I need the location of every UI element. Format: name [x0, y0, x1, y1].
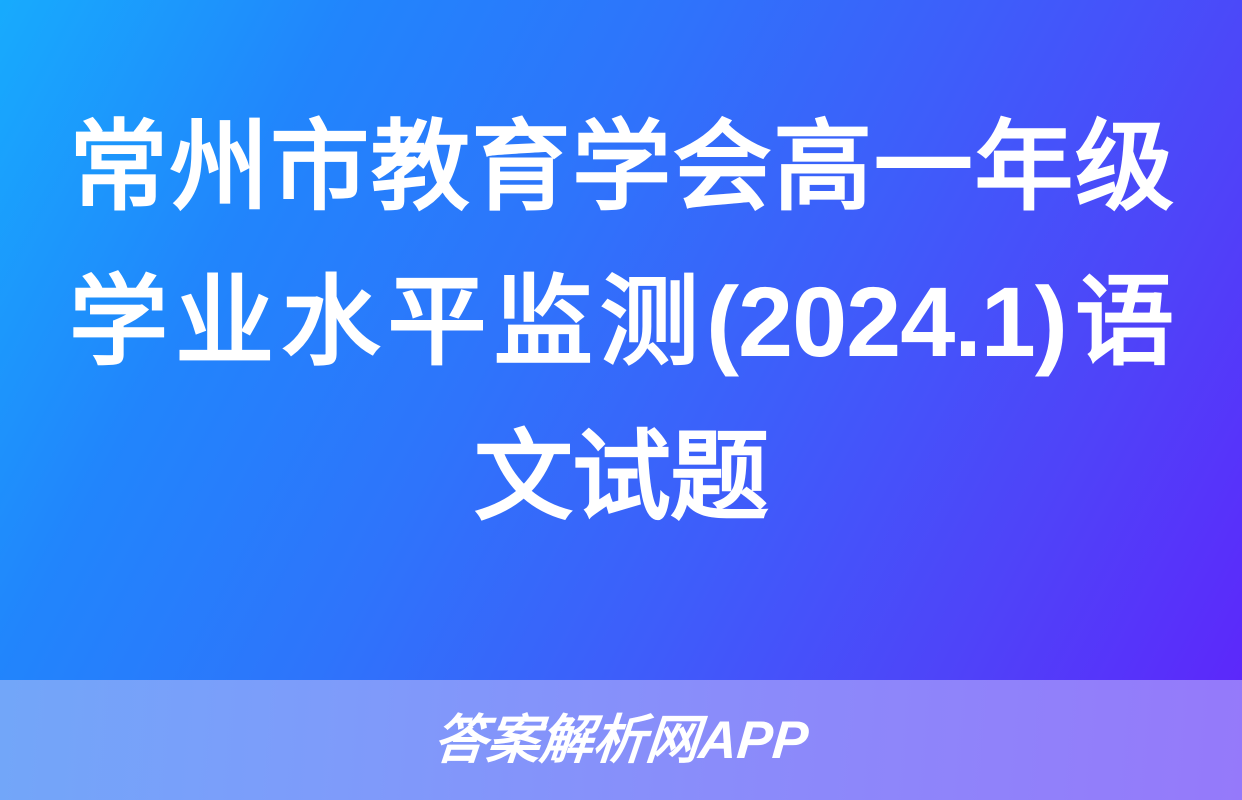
poster-title-line-3: 文试题 [69, 399, 1173, 554]
poster-title-line-2: 学业水平监测(2024.1)语 [69, 244, 1173, 399]
watermark-label-text: 答案解析网APP [432, 714, 811, 767]
poster-title-line-1: 常州市教育学会高一年级 [69, 89, 1173, 244]
watermark-label: 答案解析网APP [0, 680, 1242, 800]
poster-canvas: 常州市教育学会高一年级 学业水平监测(2024.1)语 文试题 答案解析网APP [0, 0, 1242, 800]
poster-title-block: 常州市教育学会高一年级 学业水平监测(2024.1)语 文试题 [0, 0, 1242, 680]
